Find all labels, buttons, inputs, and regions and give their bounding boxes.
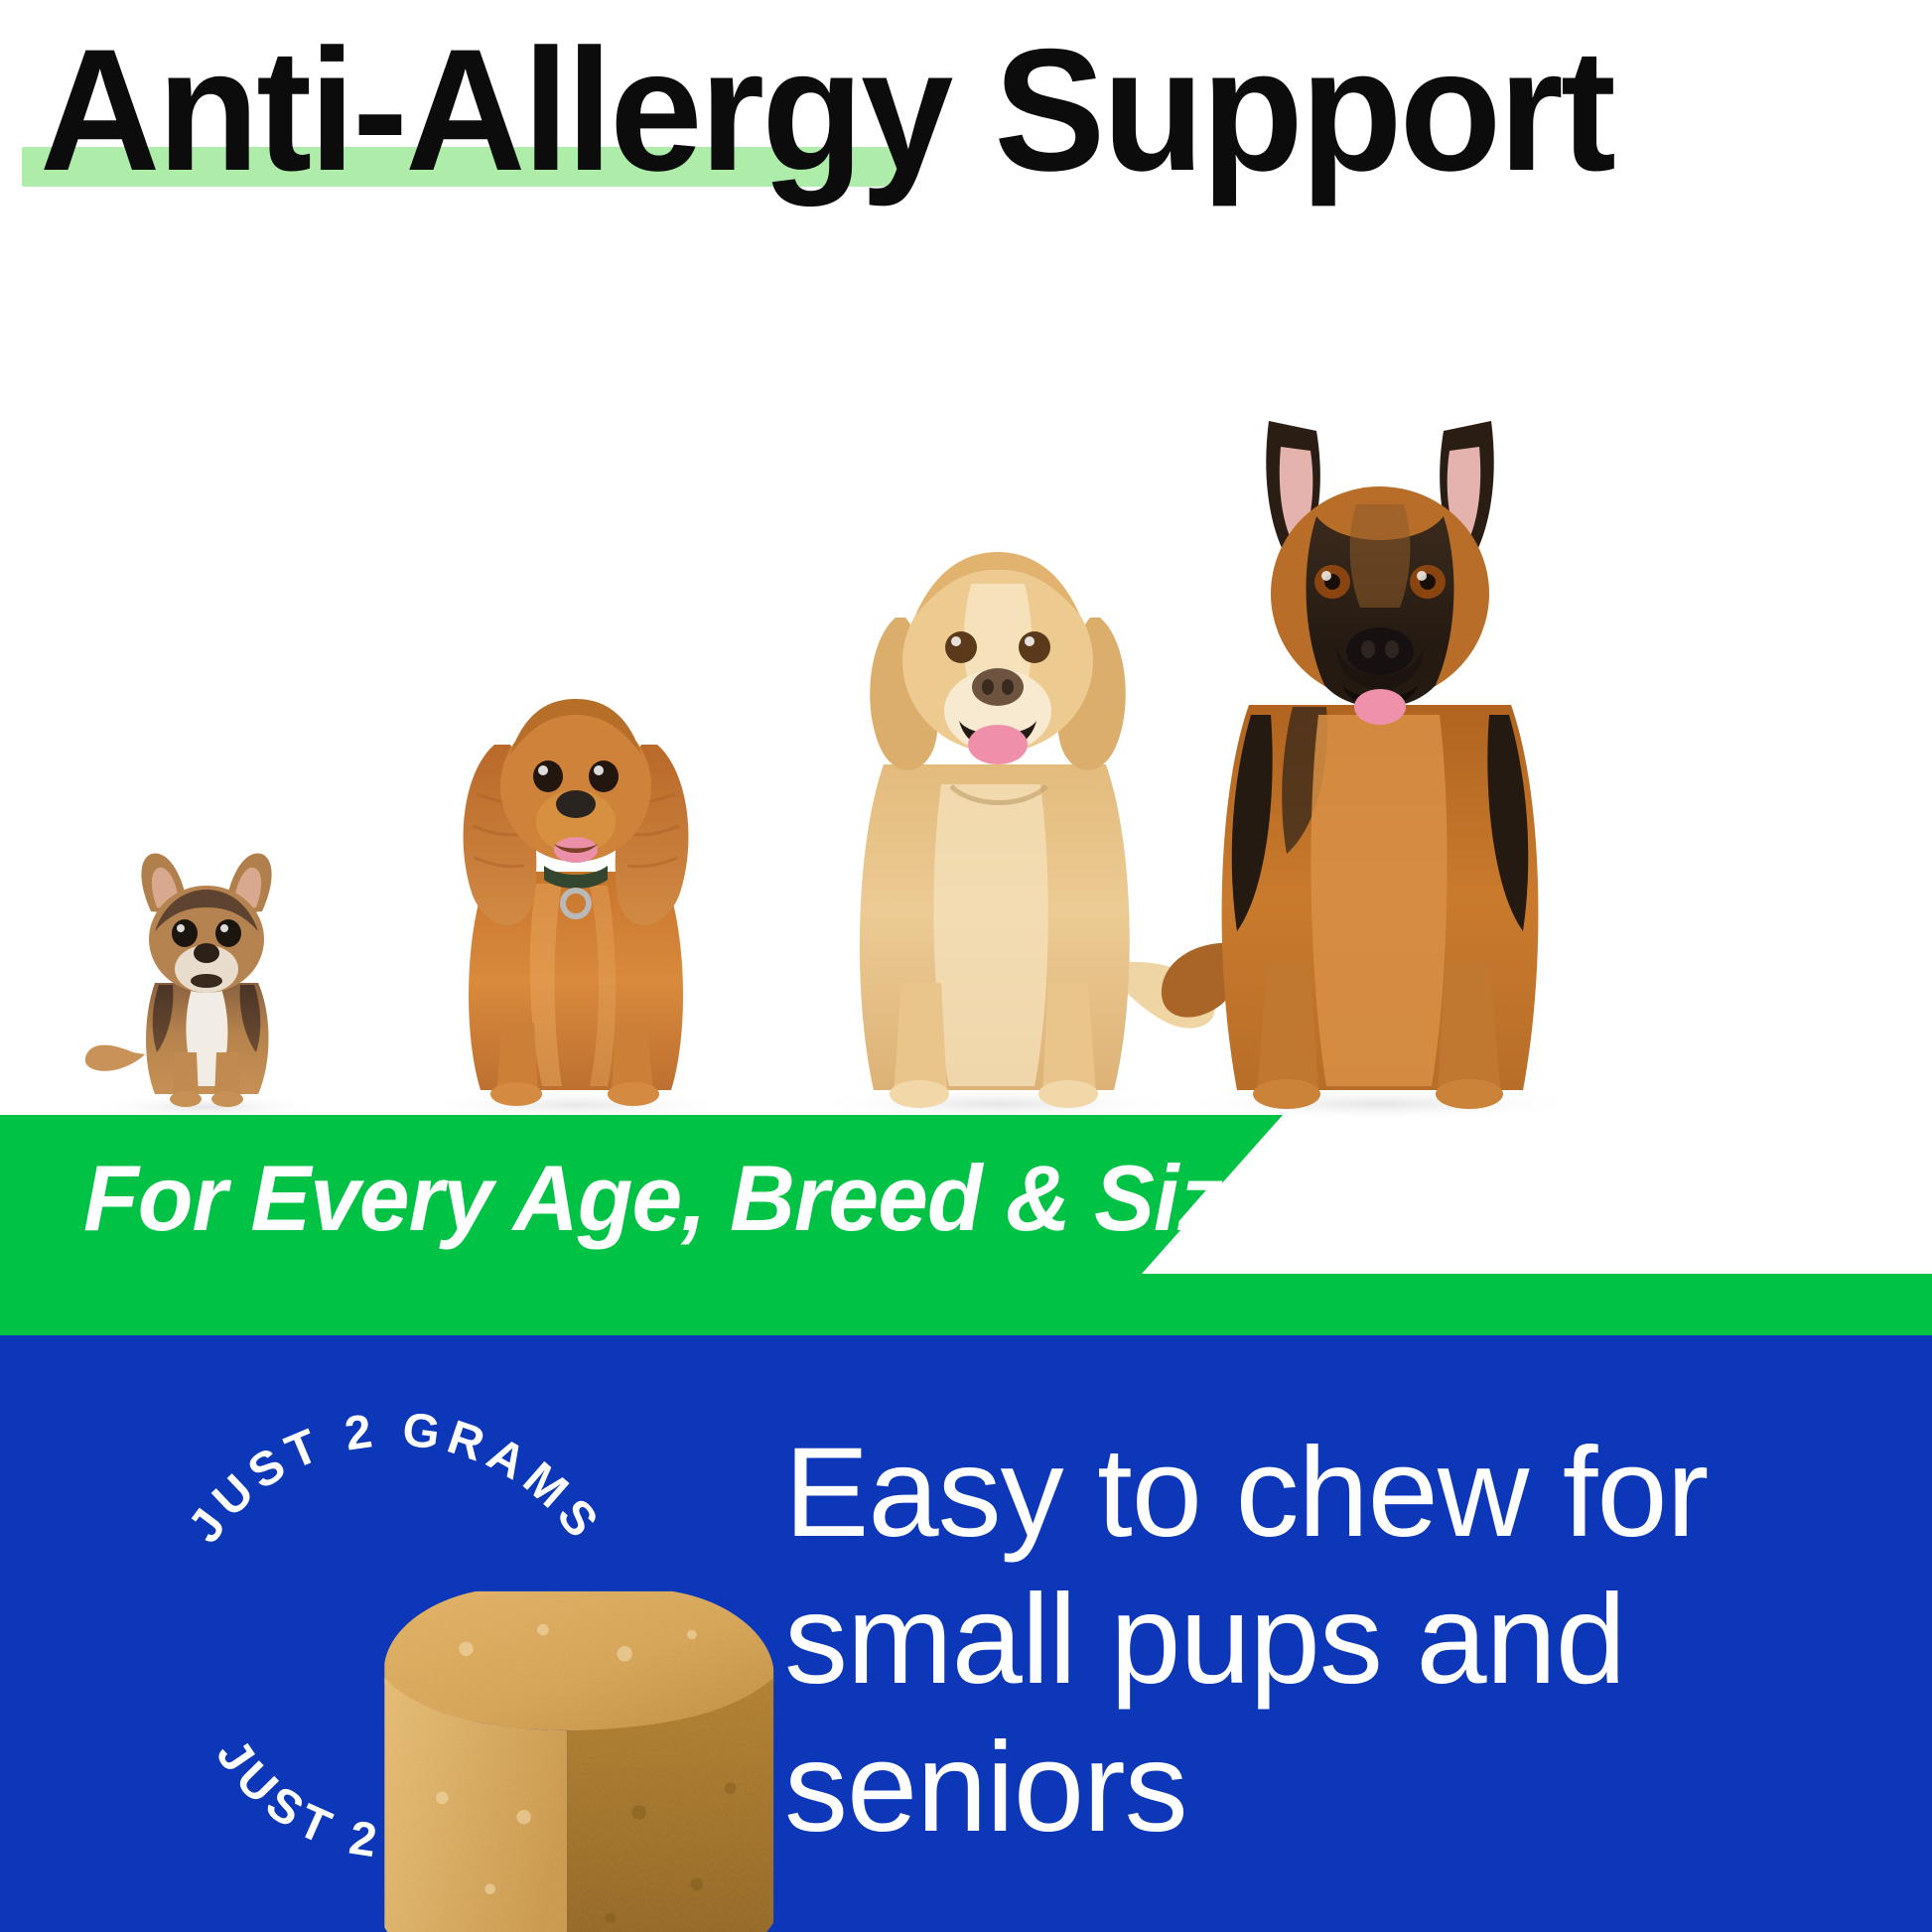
dog-lineup — [0, 248, 1932, 1122]
product-infographic: Anti-Allergy Support — [0, 0, 1932, 1932]
just-2-grams-badge: JUST 2 GRAMS JUST 2 GRAMS — [117, 1382, 673, 1898]
green-banner-text: For Every Age, Breed & Size — [83, 1152, 1272, 1245]
dog-cocker-spaniel — [377, 606, 774, 1122]
dog-german-shepherd — [1122, 387, 1638, 1122]
copy-line-1: Easy to chew for — [784, 1420, 1876, 1567]
page-title: Anti-Allergy Support — [40, 24, 1613, 198]
chew-cube-icon — [300, 1529, 503, 1742]
copy-line-2: small pups and — [784, 1567, 1876, 1714]
blue-section-copy: Easy to chew for small pups and seniors — [784, 1420, 1876, 1862]
copy-line-3: seniors — [784, 1715, 1876, 1862]
dog-chihuahua — [48, 804, 365, 1122]
header-region: Anti-Allergy Support — [0, 0, 1932, 238]
